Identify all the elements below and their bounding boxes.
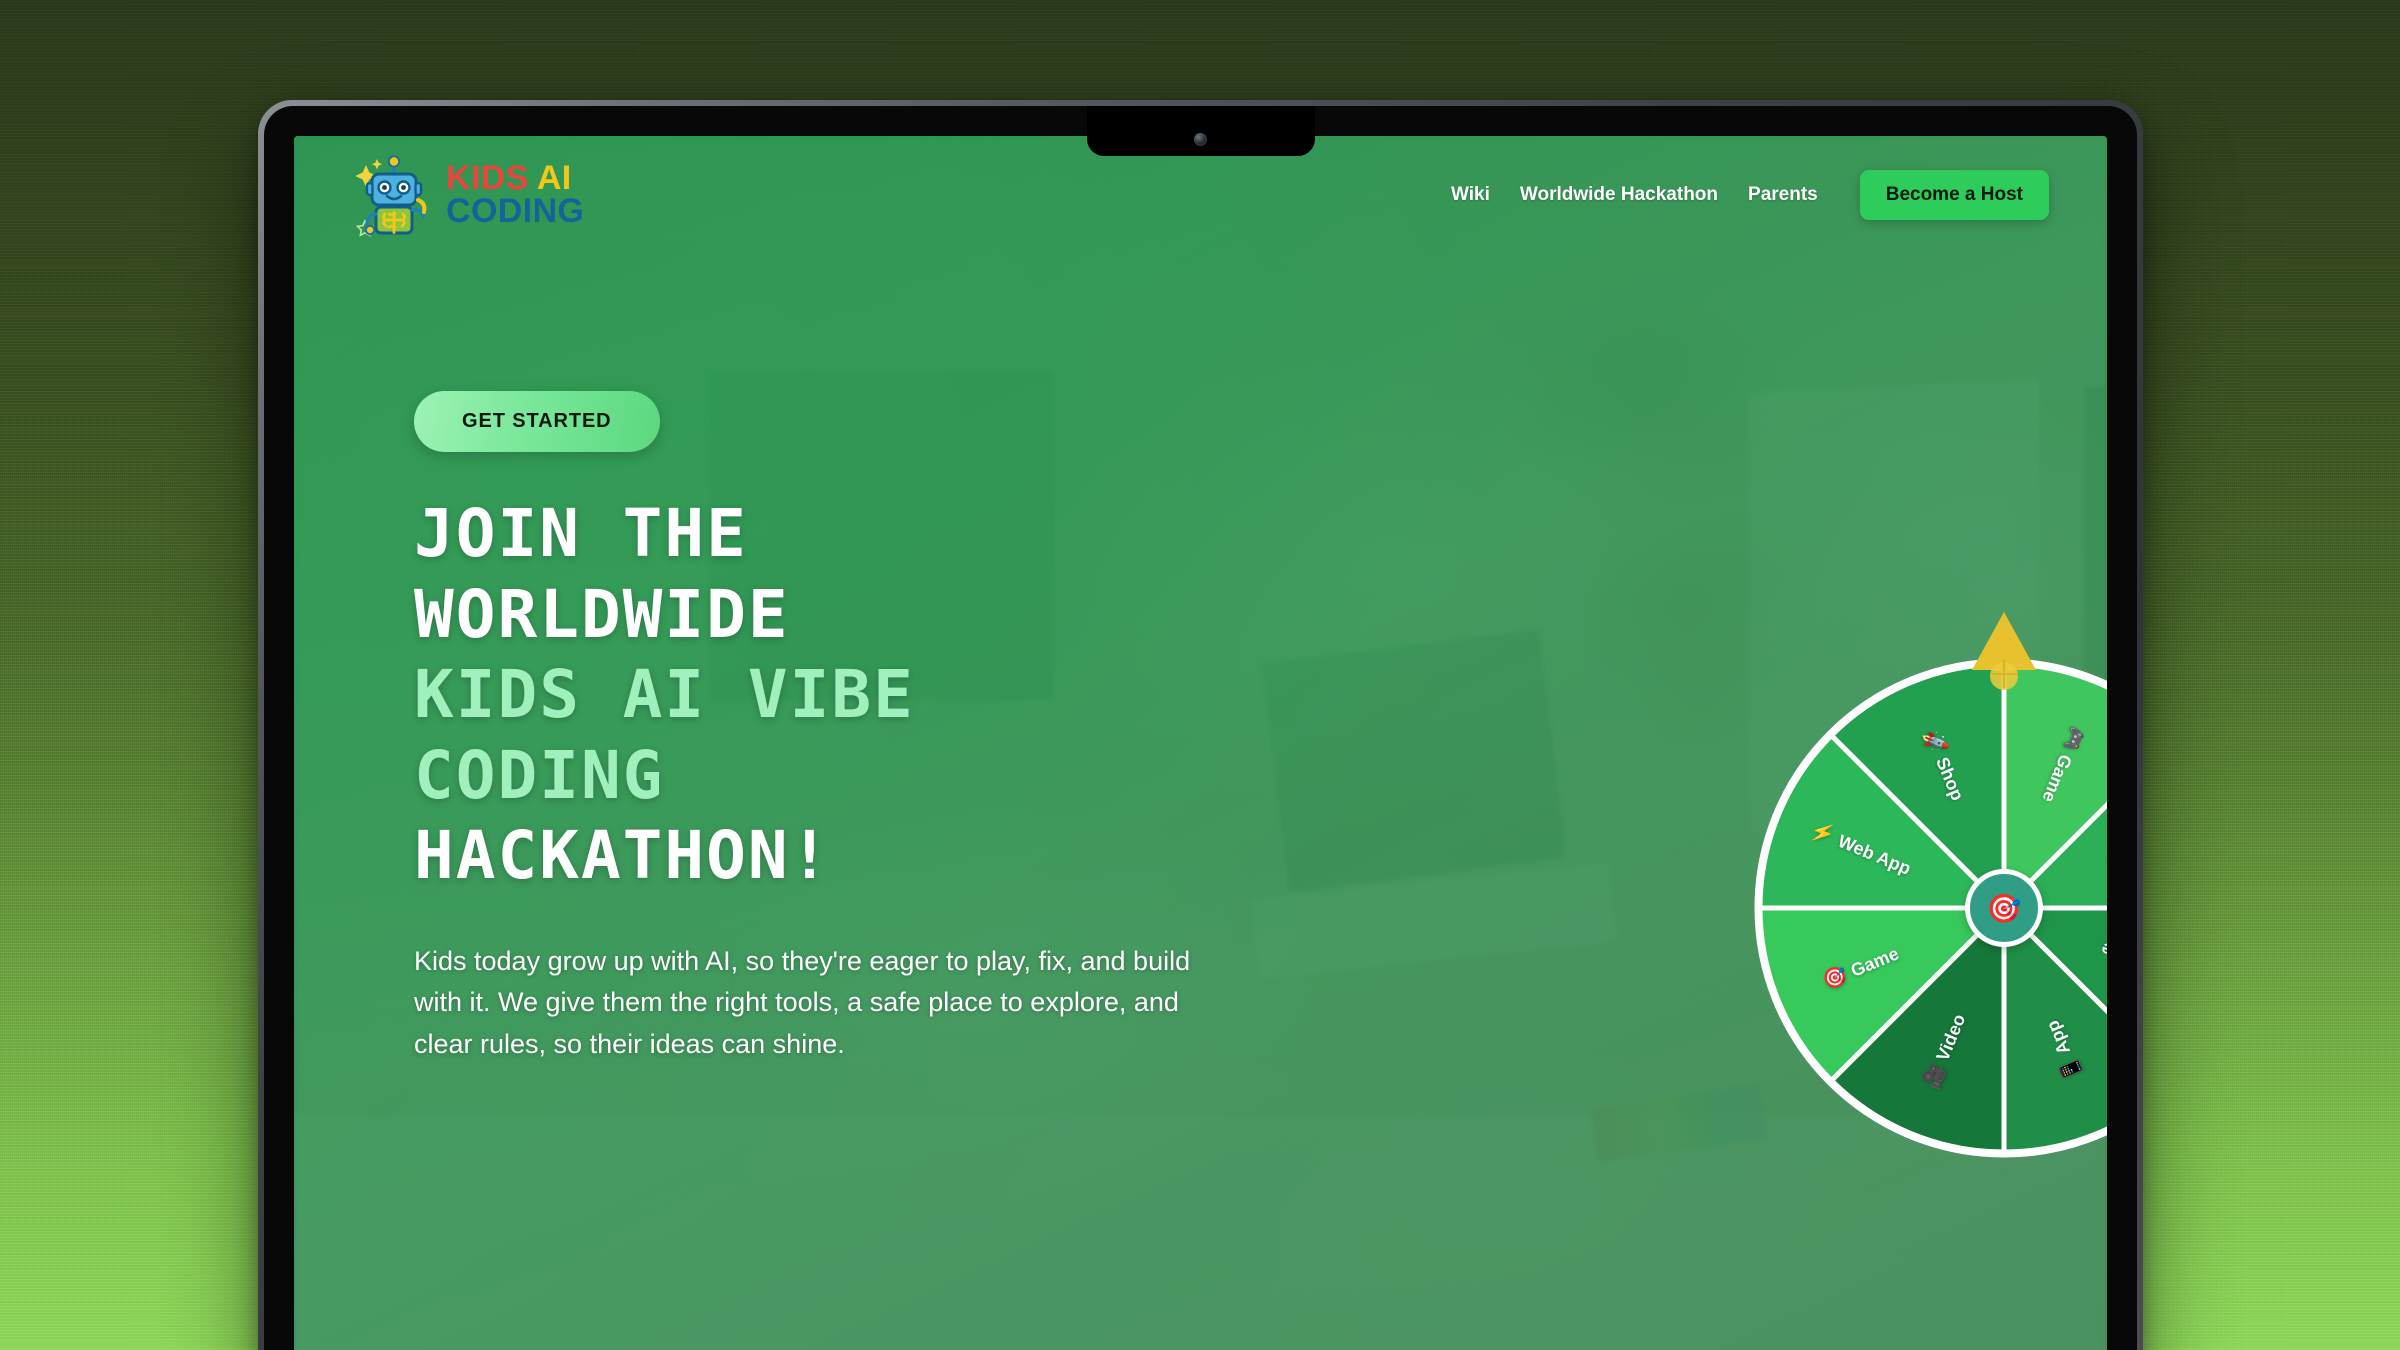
hero-heading-line-4: CODING (414, 736, 1294, 817)
wheel-segment-text: Shop (1932, 754, 1968, 803)
get-started-button[interactable]: GET STARTED (414, 391, 660, 452)
wheel-segment-label: 🎮 Game (2036, 723, 2090, 806)
wheel-segment-text: Social (2105, 835, 2107, 874)
logo-text-coding: CODING (446, 195, 584, 228)
nav-link-worldwide-hackathon[interactable]: Worldwide Hackathon (1520, 184, 1718, 206)
site-logo[interactable]: KIDSAI CODING (356, 152, 584, 238)
hero-heading-line-5: HACKATHON! (414, 816, 1294, 897)
wheel-segment-labels: 🎮 Game💻 Social🌐 Website📱 App🎥 Video🎯 Gam… (1731, 608, 2107, 1170)
hero-paragraph: Kids today grow up with AI, so they're e… (414, 941, 1214, 1066)
wheel-segment-text: App (2042, 1018, 2074, 1058)
wheel-center-hub[interactable]: 🎯 (1965, 869, 2043, 947)
wheel-segment-label: 🎯 Game (1819, 940, 1902, 994)
nav-link-parents[interactable]: Parents (1748, 184, 1818, 206)
hero-section: GET STARTED JOIN THE WORLDWIDE KIDS AI V… (414, 391, 1294, 1065)
logo-wordmark: KIDSAI CODING (446, 162, 584, 227)
triangle-pointer-icon (1964, 608, 2044, 692)
logo-line-1: KIDSAI (446, 162, 584, 195)
wheel-segment-text: Video (1932, 1011, 1969, 1064)
wheel-segment-label: 🎥 Video (1918, 1010, 1971, 1092)
hero-heading-line-3: KIDS AI VIBE (414, 655, 1294, 736)
camera-icon (1194, 133, 1207, 146)
wheel-segment-icon: 📱 (2056, 1053, 2086, 1084)
nav-link-wiki[interactable]: Wiki (1451, 184, 1490, 206)
wheel-segment-text: Website (2098, 939, 2107, 984)
wheel-segment-label: 📱 App (2039, 1017, 2087, 1086)
become-a-host-button[interactable]: Become a Host (1860, 170, 2049, 220)
robot-brain-icon (356, 152, 432, 238)
wheel-segment-icon: 🎮 (2058, 723, 2088, 754)
dart-icon: 🎯 (1987, 892, 2022, 925)
wheel-segment-label: 🚀 Shop (1919, 725, 1971, 804)
browser-viewport: KIDSAI CODING Wiki Worldwide Hackathon P… (294, 136, 2107, 1350)
hero-heading: JOIN THE WORLDWIDE KIDS AI VIBE CODING H… (414, 494, 1294, 897)
hero-heading-line-1: JOIN THE (414, 494, 1294, 575)
page-backdrop: KIDSAI CODING Wiki Worldwide Hackathon P… (0, 0, 2400, 1350)
wheel-segment-text: Web App (1835, 831, 1914, 879)
wheel-segment-label: 🌐 Website (2097, 937, 2107, 998)
wheel-segment-text: Game (1848, 943, 1902, 981)
wheel-segment-icon: 🎯 (1820, 963, 1851, 993)
laptop-notch (1087, 106, 1315, 156)
wheel-segment-icon: 🎥 (1920, 1060, 1950, 1091)
wheel-segment-icon: 🚀 (1920, 726, 1950, 757)
wheel-segment-icon: ⚡ (1807, 819, 1838, 849)
spin-wheel[interactable]: 🎮 Game💻 Social🌐 Website📱 App🎥 Video🎯 Gam… (1731, 608, 2107, 1170)
hero-heading-line-2: WORLDWIDE (414, 575, 1294, 656)
main-navigation: Wiki Worldwide Hackathon Parents Become … (1451, 170, 2049, 220)
wheel-segment-label: ⚡ Web App (1807, 817, 1915, 881)
laptop-bezel: KIDSAI CODING Wiki Worldwide Hackathon P… (264, 106, 2137, 1350)
laptop-mockup: KIDSAI CODING Wiki Worldwide Hackathon P… (258, 100, 2143, 1350)
wheel-segment-text: Game (2038, 751, 2076, 805)
wheel-segment-label: 💻 Social (2104, 821, 2107, 876)
